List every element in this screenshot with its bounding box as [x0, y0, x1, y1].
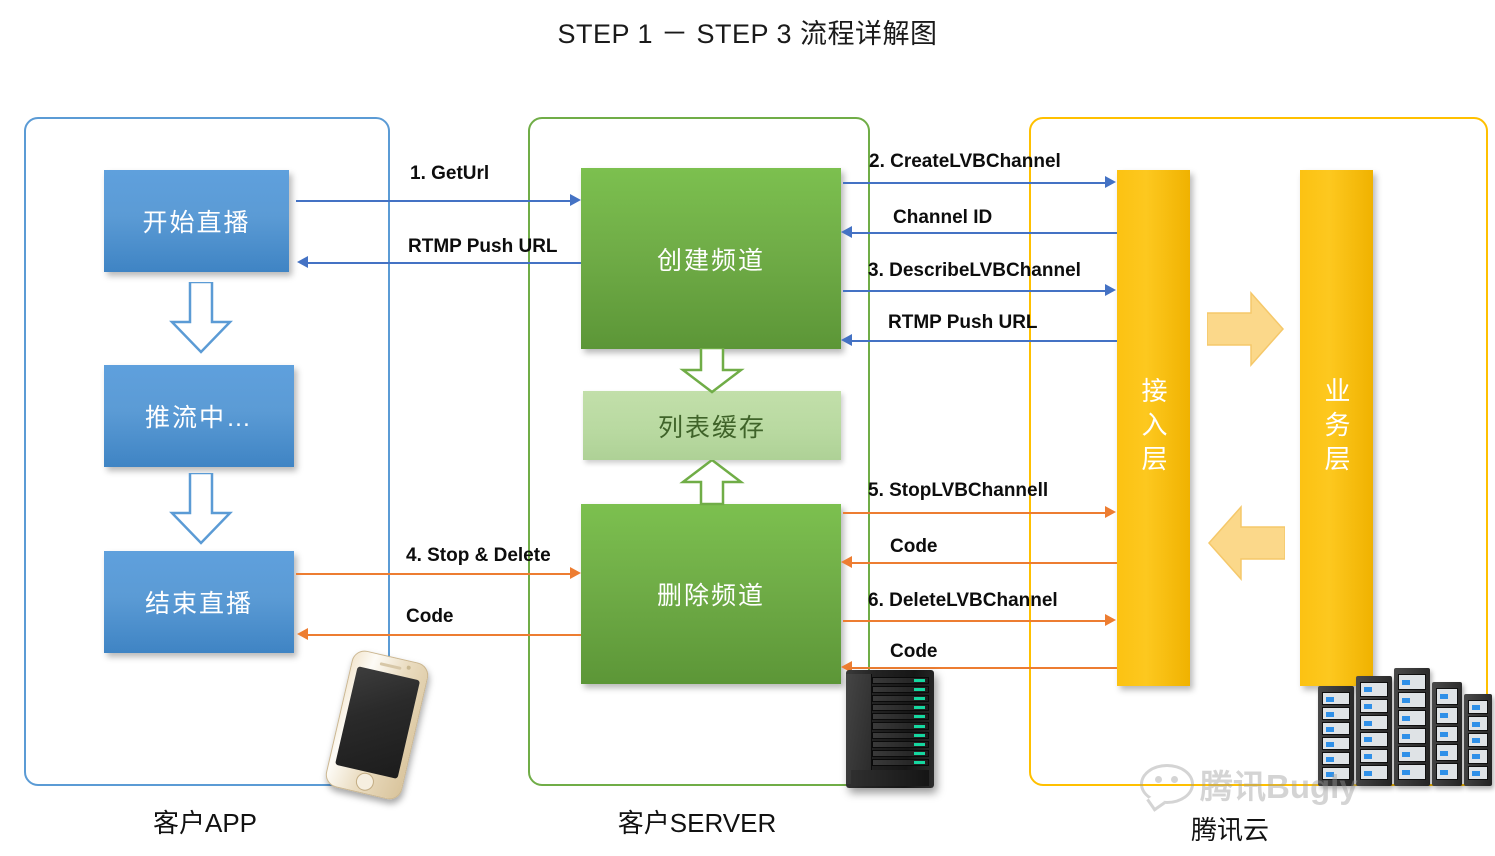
datacenter-rack	[1464, 694, 1492, 786]
msg-label-rtmp-push-url-cloud: RTMP Push URL	[888, 312, 1038, 334]
msg-label-rtmp-push-url-app: RTMP Push URL	[408, 236, 558, 258]
block-arrow-right	[1207, 289, 1285, 374]
msg-line-stop-lvb-channel	[843, 512, 1106, 514]
datacenter-rack	[1432, 682, 1462, 786]
arrowhead-create-lvb-channel	[1105, 176, 1116, 188]
datacenter-rack	[1356, 676, 1392, 786]
msg-label-describe-lvb-channel: 3. DescribeLVBChannel	[868, 260, 1081, 282]
msg-line-rtmp-push-url-app	[308, 262, 581, 264]
server-rack-icon	[846, 670, 934, 788]
page-title: STEP 1 － STEP 3 流程详解图	[0, 12, 1495, 51]
lane-label-app: 客户APP	[24, 803, 386, 840]
box-list-cache[interactable]: 列表缓存	[583, 391, 841, 460]
msg-line-channel-id	[852, 232, 1117, 234]
box-end-live[interactable]: 结束直播	[104, 551, 294, 653]
arrowhead-rtmp-push-url-app	[297, 256, 308, 268]
arrowhead-stop-lvb-channel	[1105, 506, 1116, 518]
msg-line-rtmp-push-url-cloud	[852, 340, 1117, 342]
flow-arrow-down-app-2	[168, 473, 234, 545]
arrowhead-get-url	[570, 194, 581, 206]
block-arrow-left	[1207, 503, 1285, 588]
msg-line-code-cloud-2	[852, 667, 1117, 669]
msg-label-code-app: Code	[406, 606, 454, 628]
box-pushing[interactable]: 推流中…	[104, 365, 294, 467]
arrowhead-rtmp-push-url-cloud	[841, 334, 852, 346]
msg-label-code-cloud-1: Code	[890, 536, 938, 558]
lane-label-cloud: 腾讯云	[1110, 810, 1350, 847]
msg-label-channel-id: Channel ID	[893, 207, 992, 229]
msg-line-create-lvb-channel	[843, 182, 1106, 184]
datacenter-cluster-icon	[1318, 668, 1493, 793]
lane-label-server: 客户SERVER	[528, 803, 866, 840]
msg-line-delete-lvb-channel	[843, 620, 1106, 622]
msg-label-create-lvb-channel: 2. CreateLVBChannel	[869, 151, 1061, 173]
box-access-layer[interactable]: 接入层	[1117, 170, 1190, 686]
datacenter-rack	[1318, 686, 1354, 786]
msg-line-code-cloud-1	[852, 562, 1117, 564]
arrowhead-channel-id	[841, 226, 852, 238]
server-rack-side-panel	[846, 674, 872, 784]
msg-label-get-url: 1. GetUrl	[410, 163, 489, 185]
msg-label-delete-lvb-channel: 6. DeleteLVBChannel	[868, 590, 1058, 612]
msg-line-stop-delete	[296, 573, 571, 575]
arrowhead-stop-delete	[570, 567, 581, 579]
arrowhead-code-app	[297, 628, 308, 640]
msg-line-get-url	[296, 200, 571, 202]
diagram-canvas: STEP 1 － STEP 3 流程详解图 客户APP 客户SERVER 腾讯云…	[0, 0, 1495, 856]
server-rack-base	[851, 770, 928, 786]
datacenter-rack	[1394, 668, 1430, 786]
arrowhead-delete-lvb-channel	[1105, 614, 1116, 626]
flow-arrow-down-server-1	[679, 348, 745, 394]
msg-line-code-app	[308, 634, 581, 636]
msg-label-stop-lvb-channel: 5. StopLVBChannell	[868, 480, 1048, 502]
msg-label-code-cloud-2: Code	[890, 641, 938, 663]
box-create-channel[interactable]: 创建频道	[581, 168, 841, 349]
box-delete-channel[interactable]: 删除频道	[581, 504, 841, 684]
arrowhead-code-cloud-1	[841, 556, 852, 568]
msg-line-describe-lvb-channel	[843, 290, 1106, 292]
msg-label-stop-delete: 4. Stop & Delete	[406, 545, 551, 567]
server-rack-bays	[872, 677, 929, 766]
box-business-layer[interactable]: 业务层	[1300, 170, 1373, 686]
flow-arrow-up-server-1	[679, 460, 745, 506]
flow-arrow-down-app-1	[168, 282, 234, 354]
arrowhead-describe-lvb-channel	[1105, 284, 1116, 296]
box-start-live[interactable]: 开始直播	[104, 170, 289, 272]
